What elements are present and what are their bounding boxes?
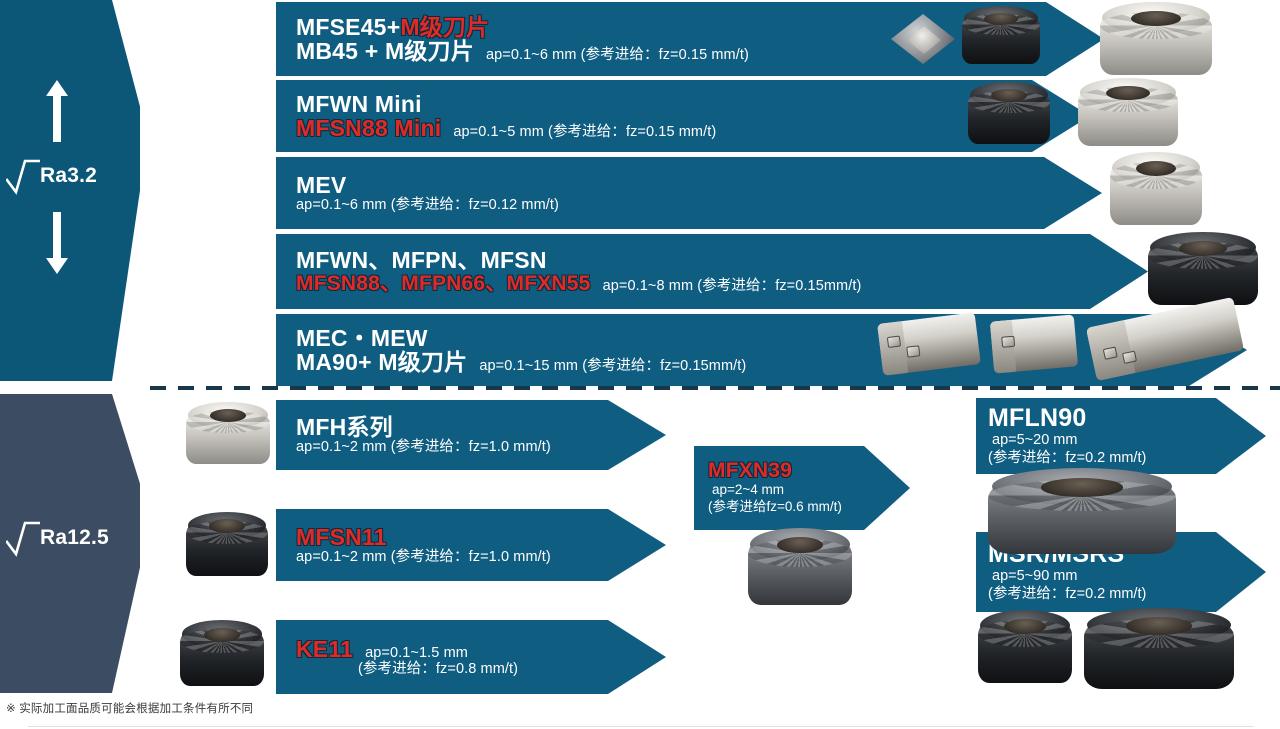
ra-mark-lower: Ra12.5: [6, 518, 109, 558]
tool-photo-mfh-cutter: [186, 402, 270, 468]
cutting-spec: ap=0.1~8 mm (参考进给：fz=0.15mm/t): [603, 279, 862, 294]
tool-photo-mfsn88-mini-cutter: [1078, 78, 1178, 150]
tool-name: MFH系列: [296, 415, 393, 439]
insert-chip: [887, 336, 901, 349]
tool-name-red: KE11: [296, 637, 353, 661]
cutting-spec: ap=0.1~6 mm (参考进给：fz=0.15 mm/t): [486, 48, 749, 63]
tool-photo-mew-endmill: [990, 314, 1078, 373]
banner-mfwn-mfpn-mfsn[interactable]: MFWN、MFPN、MFSN MFSN88、MFPN66、MFXN55 ap=0…: [276, 234, 1148, 309]
cutting-spec: ap=0.1~2 mm (参考进给：fz=1.0 mm/t): [296, 440, 551, 455]
cutter-bore: [204, 628, 241, 642]
tool-name-red: MFSN11: [296, 525, 387, 549]
finish-panel-ra3-2: Ra3.2: [0, 0, 140, 381]
banner-line: MFLN90: [988, 405, 1280, 432]
banner-line: MFWN、MFPN、MFSN: [296, 248, 1148, 272]
banner-line: KE11 ap=0.1~1.5 mm: [296, 637, 666, 661]
banner-line: MFXN39: [708, 460, 910, 482]
tool-photo-mfsn11-cutter: [186, 512, 268, 580]
arrow-down-head: [46, 258, 68, 274]
tool-name-red: MFSN88、MFPN66、MFXN55: [296, 273, 591, 295]
cutting-spec: ap=0.1~15 mm (参考进给：fz=0.15mm/t): [479, 359, 746, 374]
surface-finish-symbol-icon: [6, 518, 40, 558]
tool-photo-ke11-cutter: [180, 620, 264, 690]
cutting-spec-line1: ap=2~4 mm: [712, 482, 910, 499]
cutting-spec: ap=0.1~1.5 mm: [365, 646, 468, 661]
banner-mfxn39[interactable]: MFXN39 ap=2~4 mm (参考进给fz=0.6 mm/t): [694, 446, 910, 530]
banner-mev[interactable]: MEV ap=0.1~6 mm (参考进给：fz=0.12 mm/t): [276, 157, 1102, 229]
cutting-spec-line2: (参考进给：fz=0.2 mm/t): [988, 585, 1280, 603]
tool-name-red: M级刀片: [400, 15, 489, 39]
finish-panel-ra12-5: Ra12.5: [0, 394, 140, 693]
tool-name: MA90+ M级刀片: [296, 350, 467, 374]
tool-name: MB45 + M级刀片: [296, 39, 474, 63]
tool-photo-msr-cutter: [978, 610, 1072, 688]
tool-photo-mb45-cutter: [1100, 2, 1212, 80]
banner-mfsn11[interactable]: MFSN11 ap=0.1~2 mm (参考进给：fz=1.0 mm/t): [276, 509, 666, 581]
banner-line: ap=0.1~2 mm (参考进给：fz=1.0 mm/t): [296, 550, 666, 565]
banner-ke11[interactable]: KE11 ap=0.1~1.5 mm (参考进给：fz=0.8 mm/t): [276, 620, 666, 694]
tool-name: MEV: [296, 173, 346, 197]
cutter-bore: [1179, 241, 1227, 257]
tool-photo-mfxn39-cutter: [748, 528, 852, 610]
cutting-spec-line2: (参考进给：fz=0.2 mm/t): [988, 449, 1280, 467]
banner-line: MFSN88、MFPN66、MFXN55 ap=0.1~8 mm (参考进给：f…: [296, 273, 1148, 295]
banner-line: ap=0.1~6 mm (参考进给：fz=0.12 mm/t): [296, 198, 1102, 213]
tool-name-red: MFXN39: [708, 460, 792, 482]
cutting-spec: ap=0.1~2 mm (参考进给：fz=1.0 mm/t): [296, 550, 551, 565]
cutter-bore: [1004, 619, 1045, 635]
tool-name: MFWN Mini: [296, 92, 422, 116]
ra-mark-upper: Ra3.2: [6, 156, 97, 196]
banner-mfh-series[interactable]: MFH系列 ap=0.1~2 mm (参考进给：fz=1.0 mm/t): [276, 400, 666, 470]
banner-line: (参考进给：fz=0.8 mm/t): [296, 662, 666, 677]
section-divider-dashed: [150, 386, 1280, 390]
cutting-spec: ap=0.1~6 mm (参考进给：fz=0.12 mm/t): [296, 198, 559, 213]
banner-line: MFH系列: [296, 415, 666, 439]
tool-photo-mfln90-cutter: [988, 468, 1176, 560]
cutting-spec-second: (参考进给：fz=0.8 mm/t): [358, 662, 518, 677]
insert-chip: [906, 345, 920, 358]
arrow-down-stem: [53, 212, 61, 260]
tool-photo-mfwn-mini-cutter: [968, 82, 1050, 148]
cutter-bore: [1131, 11, 1180, 27]
cutting-spec-line2: (参考进给fz=0.6 mm/t): [708, 499, 910, 516]
connector-plus: +: [387, 15, 401, 39]
tool-name: MEC・MEW: [296, 326, 428, 350]
cutter-bore: [1126, 617, 1192, 634]
cutting-spec-line1: ap=5~20 mm: [992, 431, 1280, 449]
footnote-disclaimer: ※ 实际加工面品质可能会根据加工条件有所不同: [6, 700, 253, 716]
cutting-spec-line1: ap=5~90 mm: [992, 567, 1280, 585]
arrow-up-icon: [46, 80, 68, 142]
arrow-down-icon: [46, 212, 68, 274]
cutter-bore: [1041, 478, 1124, 496]
cutter-bore: [209, 519, 245, 533]
surface-finish-tool-selection-chart: Ra3.2 Ra12.5 MFSE45 + M级刀片 MB45 + M级刀片: [0, 0, 1280, 729]
arrow-up-stem: [53, 94, 61, 142]
tool-name: MFWN、MFPN、MFSN: [296, 248, 547, 272]
tool-name: MFSE45: [296, 15, 387, 39]
ra-label-upper: Ra3.2: [40, 164, 97, 188]
banner-line: ap=0.1~2 mm (参考进给：fz=1.0 mm/t): [296, 440, 666, 455]
banner-line: MEV: [296, 173, 1102, 197]
cutter-bore: [1136, 161, 1177, 177]
tool-photo-mfse45-cutter: [962, 6, 1040, 68]
surface-finish-symbol-icon: [6, 156, 40, 196]
insert-chip: [1001, 336, 1015, 348]
tool-photo-msrs-cutter: [1084, 608, 1234, 694]
banner-mfln90[interactable]: MFLN90 ap=5~20 mm (参考进给：fz=0.2 mm/t): [976, 398, 1280, 474]
ra-label-lower: Ra12.5: [40, 526, 109, 550]
banner-line: MFSN11: [296, 525, 666, 549]
tool-photo-insert-diamond: [885, 8, 961, 70]
tool-name: MFLN90: [988, 405, 1086, 432]
tool-photo-mfsn88-cutter: [1148, 232, 1258, 310]
tool-name-red: MFSN88 Mini: [296, 116, 441, 140]
tool-photo-mev-cutter: [1110, 152, 1202, 230]
bottom-divider: [28, 726, 1254, 727]
cutting-spec: ap=0.1~5 mm (参考进给：fz=0.15 mm/t): [453, 125, 716, 140]
